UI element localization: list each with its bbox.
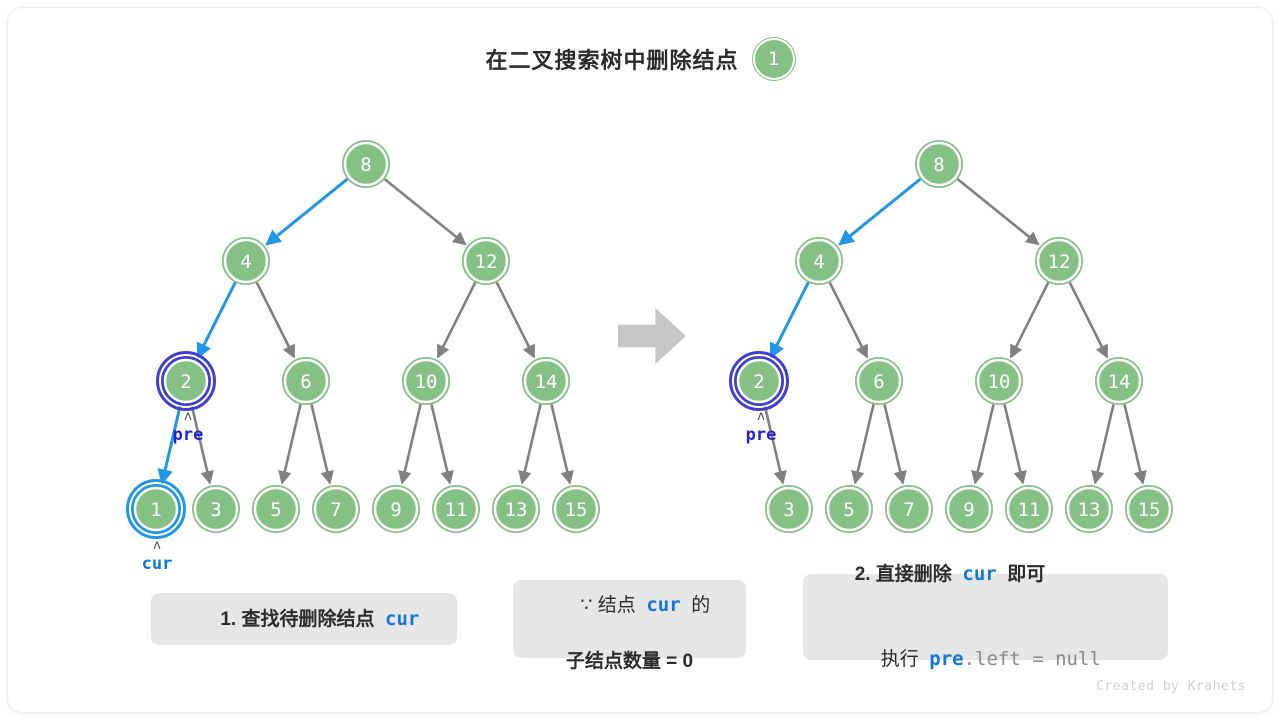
tree-node-label: 15 — [565, 499, 588, 521]
tree-node-label: 15 — [1138, 499, 1161, 521]
tree-node-1: 1 — [128, 481, 185, 538]
diagram-card: 在二叉搜索树中删除结点 1 841226101413579111315 8412… — [8, 8, 1272, 712]
tree-edge — [840, 179, 920, 244]
right-tree-nodes: 84122610143579111315 — [731, 141, 1173, 532]
tree-edge — [855, 404, 873, 482]
tree-node-label: 2 — [180, 371, 191, 393]
tree-edge — [385, 179, 465, 244]
tree-node-7: 7 — [313, 486, 359, 532]
right-tree-pointers: ʌpre — [746, 409, 777, 445]
tree-node-10: 10 — [976, 358, 1022, 404]
caption-step-1-code: cur — [385, 608, 419, 630]
tree-edge — [431, 404, 449, 482]
tree-node-label: 8 — [360, 154, 371, 176]
tree-edge — [1004, 404, 1022, 482]
tree-node-label: 11 — [1018, 499, 1041, 521]
caption-step-2-rest: .left = null — [964, 648, 1101, 670]
pointer-caret-icon: ʌ — [184, 409, 192, 424]
tree-node-label: 11 — [445, 499, 468, 521]
caption-step-2-pre-code: pre — [929, 648, 963, 670]
tree-node-14: 14 — [523, 358, 569, 404]
tree-edge — [830, 282, 867, 356]
tree-node-label: 13 — [505, 499, 528, 521]
pointer-caret-icon: ʌ — [757, 409, 765, 424]
tree-edge — [1070, 282, 1107, 356]
caption-step-2-line-2: 执行 pre.left = null — [823, 617, 1101, 702]
tree-node-3: 3 — [193, 486, 239, 532]
tree-edge — [267, 179, 347, 244]
tree-node-15: 15 — [553, 486, 599, 532]
tree-node-label: 3 — [783, 499, 794, 521]
caption-reason-line-2: 子结点数量 = 0 — [566, 648, 693, 676]
tree-node-label: 9 — [390, 499, 401, 521]
tree-edge — [1124, 404, 1142, 482]
tree-node-2: 2 — [731, 353, 788, 410]
tree-node-label: 14 — [535, 371, 558, 393]
tree-node-7: 7 — [886, 486, 932, 532]
tree-node-15: 15 — [1126, 486, 1172, 532]
tree-node-11: 11 — [433, 486, 479, 532]
caption-step-2: 2. 直接删除 cur 即可 执行 pre.left = null — [803, 574, 1168, 660]
tree-node-label: 7 — [903, 499, 914, 521]
right-arrow-icon — [618, 308, 686, 364]
tree-node-label: 1 — [150, 499, 161, 521]
caption-step-1-line: 1. 查找待删除结点 cur — [189, 577, 420, 662]
tree-node-label: 13 — [1078, 499, 1101, 521]
tree-edge — [438, 282, 475, 356]
caption-step-2-suffix: 即可 — [1007, 564, 1045, 585]
tree-edge — [522, 404, 540, 482]
tree-edge — [975, 404, 993, 482]
tree-node-10: 10 — [403, 358, 449, 404]
tree-edge — [257, 282, 294, 356]
tree-node-label: 10 — [988, 371, 1011, 393]
tree-edge — [198, 282, 235, 356]
pointer-pre: ʌpre — [746, 409, 777, 445]
tree-node-label: 12 — [1048, 251, 1071, 273]
tree-node-11: 11 — [1006, 486, 1052, 532]
tree-node-4: 4 — [796, 238, 842, 284]
tree-node-8: 8 — [343, 141, 389, 187]
tree-node-label: 9 — [963, 499, 974, 521]
tree-edge — [311, 404, 329, 482]
tree-node-label: 6 — [873, 371, 884, 393]
tree-node-9: 9 — [946, 486, 992, 532]
caption-step-2-line-1: 2. 直接删除 cur 即可 — [823, 532, 1045, 617]
pointer-caret-icon: ʌ — [153, 538, 161, 553]
tree-edge — [771, 282, 808, 356]
tree-node-12: 12 — [463, 238, 509, 284]
tree-node-label: 4 — [813, 251, 824, 273]
caption-step-2-code: cur — [962, 563, 996, 585]
right-tree-edges — [764, 179, 1142, 483]
caption-reason: ∵ 结点 cur 的 子结点数量 = 0 — [513, 580, 746, 658]
caption-reason-suffix: 的 — [691, 595, 710, 616]
caption-step-2-exec: 执行 — [855, 649, 919, 670]
caption-reason-prefix: ∵ 结点 — [580, 595, 635, 616]
tree-edge — [282, 404, 300, 482]
tree-edge — [1095, 404, 1113, 482]
tree-node-8: 8 — [916, 141, 962, 187]
pointer-cur: ʌcur — [142, 538, 173, 574]
tree-node-label: 2 — [753, 371, 764, 393]
caption-reason-code: cur — [646, 594, 680, 616]
pointer-label: pre — [746, 425, 777, 445]
tree-edge — [884, 404, 902, 482]
transition-arrow-icon — [618, 308, 686, 364]
tree-node-label: 5 — [270, 499, 281, 521]
tree-edge — [551, 404, 569, 482]
caption-reason-line-1: ∵ 结点 cur 的 — [549, 563, 711, 648]
tree-node-label: 4 — [240, 251, 251, 273]
tree-node-label: 14 — [1108, 371, 1131, 393]
caption-step-1: 1. 查找待删除结点 cur — [151, 593, 457, 645]
left-tree-edges — [162, 179, 570, 483]
tree-edge — [402, 404, 420, 482]
pointer-label: pre — [173, 425, 204, 445]
tree-node-4: 4 — [223, 238, 269, 284]
tree-node-3: 3 — [766, 486, 812, 532]
tree-node-6: 6 — [283, 358, 329, 404]
tree-node-label: 12 — [475, 251, 498, 273]
tree-node-label: 5 — [843, 499, 854, 521]
tree-node-label: 10 — [415, 371, 438, 393]
tree-edge — [1011, 282, 1048, 356]
tree-edge — [497, 282, 534, 356]
left-tree-nodes: 841226101413579111315 — [128, 141, 600, 538]
tree-node-13: 13 — [493, 486, 539, 532]
tree-node-13: 13 — [1066, 486, 1112, 532]
tree-node-2: 2 — [158, 353, 215, 410]
tree-node-5: 5 — [826, 486, 872, 532]
tree-node-label: 6 — [300, 371, 311, 393]
tree-node-14: 14 — [1096, 358, 1142, 404]
tree-node-9: 9 — [373, 486, 419, 532]
caption-step-1-prefix: 1. 查找待删除结点 — [220, 609, 374, 630]
tree-edge — [958, 179, 1038, 244]
tree-node-label: 7 — [330, 499, 341, 521]
tree-node-label: 8 — [933, 154, 944, 176]
tree-node-5: 5 — [253, 486, 299, 532]
caption-step-2-prefix: 2. 直接删除 — [855, 564, 952, 585]
tree-node-label: 3 — [210, 499, 221, 521]
tree-node-12: 12 — [1036, 238, 1082, 284]
pointer-label: cur — [142, 554, 173, 574]
tree-node-6: 6 — [856, 358, 902, 404]
footer-credit: Created by Krahets — [1096, 679, 1246, 694]
